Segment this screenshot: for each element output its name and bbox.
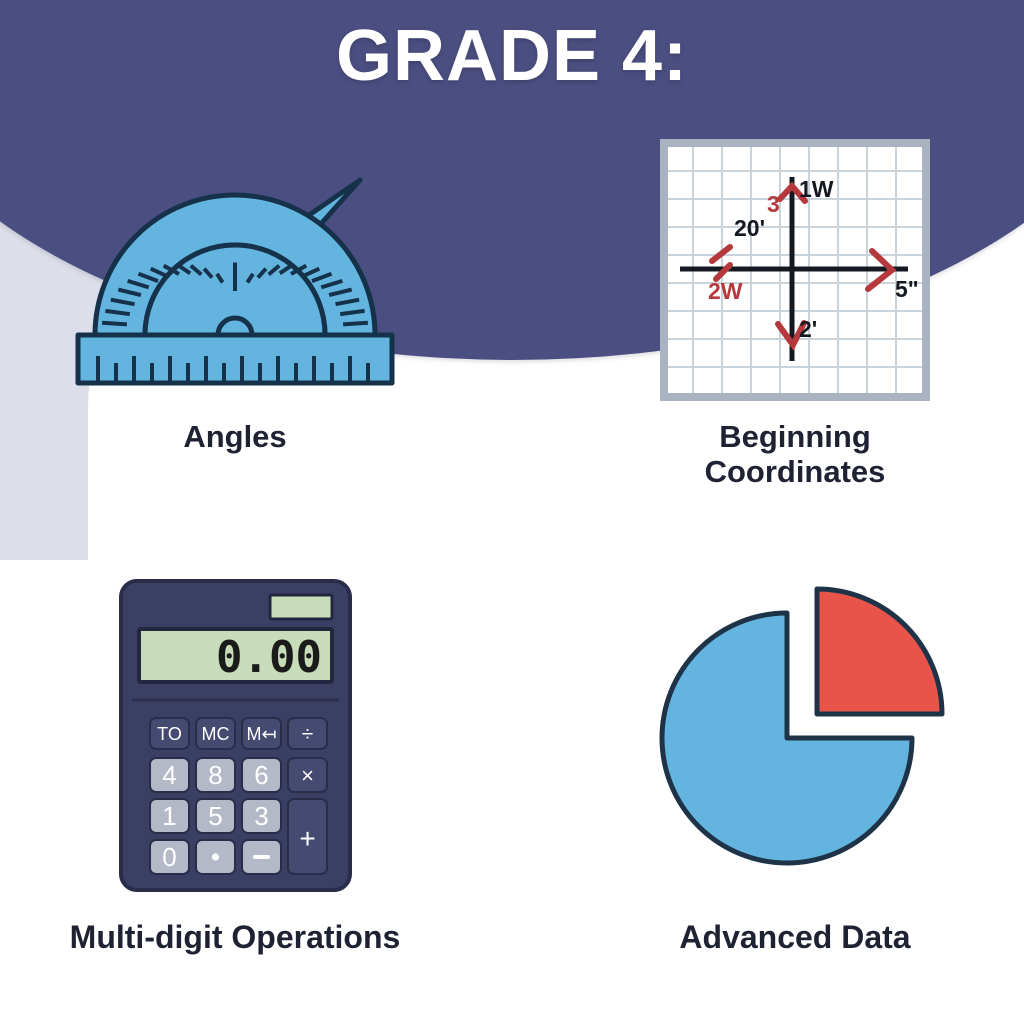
grid-label-2ft: 2' (799, 316, 817, 342)
poster-root: GRADE 4: (0, 0, 1024, 1024)
protractor-icon (10, 140, 460, 400)
topic-card-operations[interactable]: 0.00 TO MC M↤ ÷ (10, 570, 460, 956)
topic-caption-operations: Multi-digit Operations (10, 920, 460, 956)
svg-text:6: 6 (254, 760, 268, 790)
svg-text:4: 4 (162, 760, 176, 790)
grid-label-1w: 1W (799, 176, 834, 202)
grid-label-2w: 2W (708, 278, 743, 304)
svg-text:MC: MC (201, 724, 229, 744)
page-title: GRADE 4: (0, 20, 1024, 92)
solar-panel (270, 595, 332, 619)
calculator-display-value: 0.00 (216, 632, 322, 683)
calculator-keys-row4: 0 (150, 840, 281, 874)
grid-label-5in: 5" (895, 276, 919, 302)
svg-text:0: 0 (162, 842, 176, 872)
coordinate-grid-icon: 1W 20' 5" 2' 3 2W (570, 140, 1020, 400)
topic-grid: Angles (0, 140, 1024, 1020)
topic-caption-angles: Angles (10, 420, 460, 455)
pie-chart-icon (570, 570, 1020, 900)
svg-text:+: + (299, 823, 315, 854)
grid-label-3: 3 (767, 191, 780, 217)
topic-card-coordinates[interactable]: 1W 20' 5" 2' 3 2W Beginning Coordinates (570, 140, 1020, 489)
grid-label-20: 20' (734, 215, 765, 241)
svg-text:3: 3 (254, 801, 268, 831)
topic-caption-coordinates: Beginning Coordinates (570, 420, 1020, 489)
svg-text:÷: ÷ (301, 723, 313, 746)
svg-text:×: × (301, 763, 314, 788)
topic-card-angles[interactable]: Angles (10, 140, 460, 455)
svg-text:5: 5 (208, 801, 222, 831)
svg-text:8: 8 (208, 760, 222, 790)
topic-caption-data: Advanced Data (570, 920, 1020, 956)
calculator-icon: 0.00 TO MC M↤ ÷ (10, 570, 460, 900)
pie-slice-highlighted (817, 589, 942, 714)
topic-card-data[interactable]: Advanced Data (570, 570, 1020, 956)
svg-text:TO: TO (157, 724, 182, 744)
svg-text:1: 1 (162, 801, 176, 831)
svg-text:M↤: M↤ (246, 724, 276, 744)
